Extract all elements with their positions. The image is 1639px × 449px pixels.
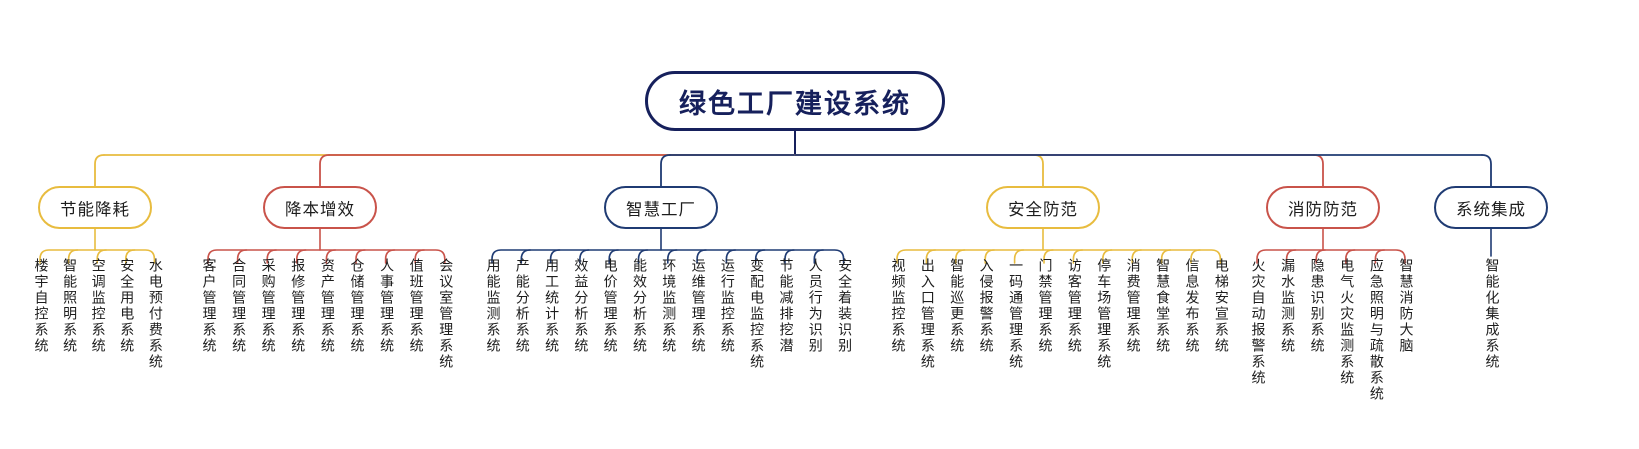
leaf-label[interactable]: 电气火灾监测系统 bbox=[1338, 258, 1356, 386]
leaf-label[interactable]: 智慧消防大脑 bbox=[1397, 258, 1415, 354]
branch-node-xitongjicheng[interactable]: 系统集成 bbox=[1434, 186, 1548, 229]
branch-node-label: 智慧工厂 bbox=[626, 196, 696, 220]
leaf-label[interactable]: 空调监控系统 bbox=[89, 258, 107, 354]
leaf-label[interactable]: 隐患识别系统 bbox=[1308, 258, 1326, 354]
leaf-label[interactable]: 火灾自动报警系统 bbox=[1249, 258, 1267, 386]
leaf-label[interactable]: 用能监测系统 bbox=[484, 258, 502, 354]
branch-node-jienengjianghao[interactable]: 节能降耗 bbox=[38, 186, 152, 229]
leaf-label[interactable]: 停车场管理系统 bbox=[1095, 258, 1113, 370]
leaf-label[interactable]: 入侵报警系统 bbox=[977, 258, 995, 354]
leaf-label[interactable]: 运维管理系统 bbox=[689, 258, 707, 354]
leaf-label[interactable]: 会议室管理系统 bbox=[437, 258, 455, 370]
leaf-label[interactable]: 消费管理系统 bbox=[1124, 258, 1142, 354]
leaf-label[interactable]: 安全用电系统 bbox=[118, 258, 136, 354]
leaf-label[interactable]: 门禁管理系统 bbox=[1036, 258, 1054, 354]
leaf-label[interactable]: 仓储管理系统 bbox=[348, 258, 366, 354]
leaf-label[interactable]: 电价管理系统 bbox=[601, 258, 619, 354]
branch-node-label: 节能降耗 bbox=[60, 196, 130, 220]
leaf-label[interactable]: 资产管理系统 bbox=[318, 258, 336, 354]
leaf-label[interactable]: 人事管理系统 bbox=[378, 258, 396, 354]
leaf-label[interactable]: 信息发布系统 bbox=[1183, 258, 1201, 354]
leaf-label[interactable]: 运行监控系统 bbox=[718, 258, 736, 354]
leaf-label[interactable]: 视频监控系统 bbox=[889, 258, 907, 354]
leaf-label[interactable]: 环境监测系统 bbox=[660, 258, 678, 354]
mindmap-canvas: 绿色工厂建设系统 节能降耗降本增效智慧工厂安全防范消防防范系统集成 楼宇自控系统… bbox=[0, 0, 1639, 449]
branch-node-label: 安全防范 bbox=[1008, 196, 1078, 220]
leaf-label[interactable]: 电梯安宣系统 bbox=[1212, 258, 1230, 354]
leaf-label[interactable]: 出入口管理系统 bbox=[918, 258, 936, 370]
leaf-label[interactable]: 漏水监测系统 bbox=[1279, 258, 1297, 354]
leaf-label[interactable]: 变配电监控系统 bbox=[748, 258, 766, 370]
leaf-label[interactable]: 产能分析系统 bbox=[513, 258, 531, 354]
leaf-label[interactable]: 人员行为识别 bbox=[806, 258, 824, 354]
branch-node-label: 消防防范 bbox=[1288, 196, 1358, 220]
leaf-label[interactable]: 报修管理系统 bbox=[289, 258, 307, 354]
root-node-label: 绿色工厂建设系统 bbox=[679, 82, 911, 121]
leaf-label[interactable]: 用工统计系统 bbox=[543, 258, 561, 354]
leaf-label[interactable]: 水电预付费系统 bbox=[146, 258, 164, 370]
branch-node-jiangbenzengxiao[interactable]: 降本增效 bbox=[263, 186, 377, 229]
leaf-label[interactable]: 能效分析系统 bbox=[631, 258, 649, 354]
leaf-label[interactable]: 客户管理系统 bbox=[200, 258, 218, 354]
leaf-label[interactable]: 采购管理系统 bbox=[259, 258, 277, 354]
branch-node-label: 降本增效 bbox=[285, 196, 355, 220]
root-node-green-factory-system[interactable]: 绿色工厂建设系统 bbox=[645, 71, 945, 131]
leaf-label[interactable]: 智慧食堂系统 bbox=[1154, 258, 1172, 354]
branch-node-anquanfangfan[interactable]: 安全防范 bbox=[986, 186, 1100, 229]
leaf-label[interactable]: 访客管理系统 bbox=[1065, 258, 1083, 354]
branch-node-label: 系统集成 bbox=[1456, 196, 1526, 220]
leaf-label[interactable]: 智能照明系统 bbox=[61, 258, 79, 354]
connector-lines bbox=[0, 0, 1639, 449]
leaf-label[interactable]: 智能巡更系统 bbox=[948, 258, 966, 354]
leaf-label[interactable]: 一码通管理系统 bbox=[1007, 258, 1025, 370]
leaf-label[interactable]: 智能化集成系统 bbox=[1483, 258, 1501, 370]
leaf-label[interactable]: 应急照明与疏散系统 bbox=[1367, 258, 1385, 402]
leaf-label[interactable]: 节能减排挖潜 bbox=[777, 258, 795, 354]
leaf-label[interactable]: 合同管理系统 bbox=[230, 258, 248, 354]
leaf-label[interactable]: 安全着装识别 bbox=[836, 258, 854, 354]
branch-node-xiaofangfangfan[interactable]: 消防防范 bbox=[1266, 186, 1380, 229]
leaf-label[interactable]: 值班管理系统 bbox=[407, 258, 425, 354]
leaf-label[interactable]: 效益分析系统 bbox=[572, 258, 590, 354]
branch-node-zhihuigongchang[interactable]: 智慧工厂 bbox=[604, 186, 718, 229]
leaf-label[interactable]: 楼宇自控系统 bbox=[32, 258, 50, 354]
